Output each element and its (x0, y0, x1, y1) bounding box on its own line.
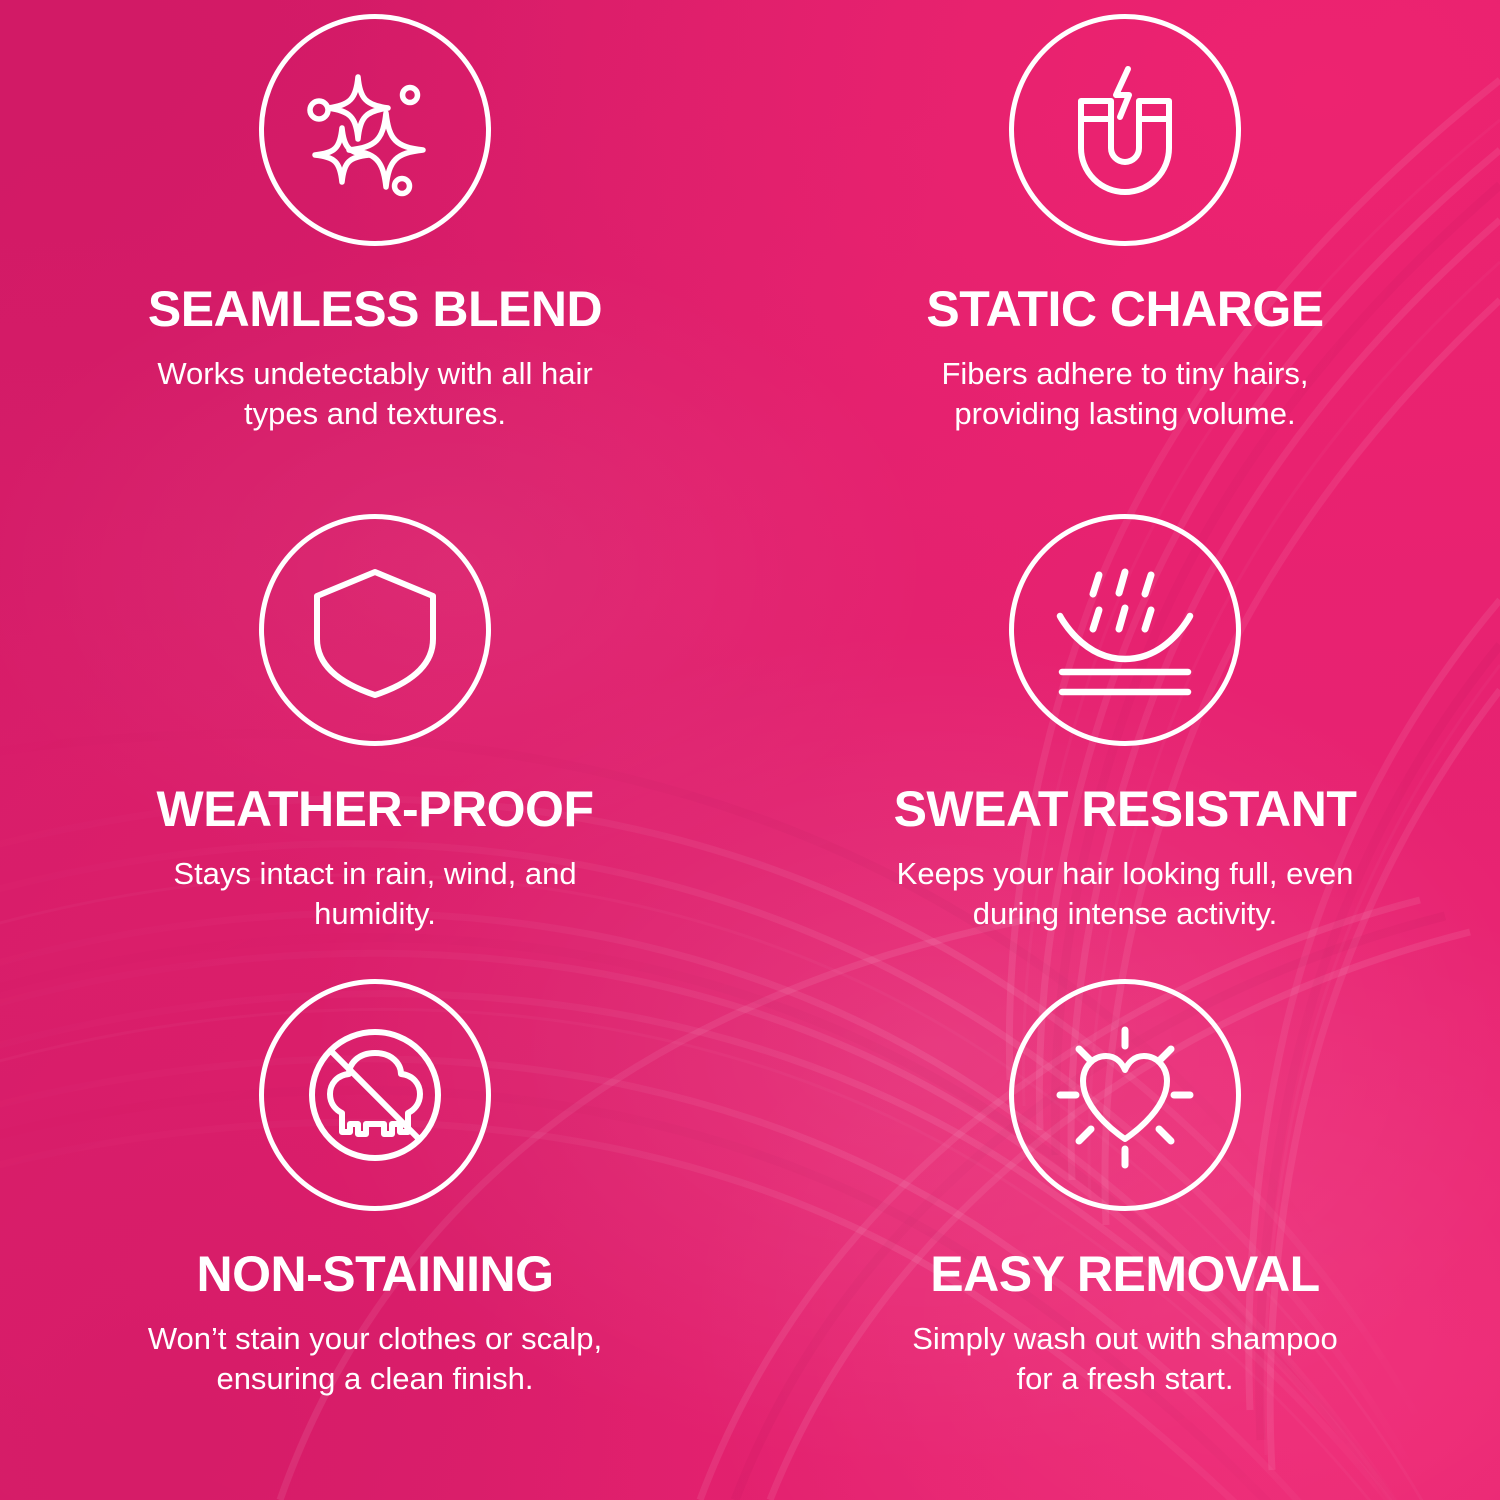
feature-card-easy-removal: EASY REMOVAL Simply wash out with shampo… (750, 965, 1500, 1500)
feature-description: Simply wash out with shampoo for a fresh… (912, 1319, 1338, 1400)
feature-description-line1: Works undetectably with all hair (157, 356, 592, 391)
feature-card-sweat-resistant: SWEAT RESISTANT Keeps your hair looking … (750, 500, 1500, 965)
feature-title: NON-STAINING (197, 1249, 554, 1299)
feature-description: Won’t stain your clothes or scalp, ensur… (148, 1319, 602, 1400)
feature-description: Stays intact in rain, wind, and humidity… (173, 854, 576, 935)
sparkles-icon-circle (259, 14, 491, 246)
feature-description-line1: Simply wash out with shampoo (912, 1321, 1338, 1356)
feature-title: SWEAT RESISTANT (894, 784, 1357, 834)
feature-card-seamless-blend: SEAMLESS BLEND Works undetectably with a… (0, 0, 750, 500)
feature-title: EASY REMOVAL (930, 1249, 1319, 1299)
magnet-icon-circle (1009, 14, 1241, 246)
feature-description-line1: Won’t stain your clothes or scalp, (148, 1321, 602, 1356)
feature-description-line1: Keeps your hair looking full, even (897, 856, 1354, 891)
feature-title: STATIC CHARGE (926, 284, 1323, 334)
water-repellent-icon-circle (1009, 514, 1241, 746)
heart-shine-icon-circle (1009, 979, 1241, 1211)
magnet-icon (1050, 55, 1200, 205)
feature-description-line1: Stays intact in rain, wind, and (173, 856, 576, 891)
feature-description-line2: for a fresh start. (912, 1359, 1338, 1399)
feature-description: Works undetectably with all hair types a… (157, 354, 592, 435)
feature-grid: SEAMLESS BLEND Works undetectably with a… (0, 0, 1500, 1500)
feature-description-line2: ensuring a clean finish. (148, 1359, 602, 1399)
sparkles-icon (300, 55, 450, 205)
feature-description-line2: types and textures. (157, 394, 592, 434)
feature-title: SEAMLESS BLEND (148, 284, 602, 334)
feature-description-line2: providing lasting volume. (941, 394, 1308, 434)
feature-card-non-staining: NON-STAINING Won’t stain your clothes or… (0, 965, 750, 1500)
heart-shine-icon (1050, 1020, 1200, 1170)
feature-description: Fibers adhere to tiny hairs, providing l… (941, 354, 1308, 435)
feature-description: Keeps your hair looking full, even durin… (897, 854, 1354, 935)
feature-card-static-charge: STATIC CHARGE Fibers adhere to tiny hair… (750, 0, 1500, 500)
feature-description-line2: during intense activity. (897, 894, 1354, 934)
feature-card-weather-proof: WEATHER-PROOF Stays intact in rain, wind… (0, 500, 750, 965)
water-repellent-icon (1050, 555, 1200, 705)
shield-icon (300, 555, 450, 705)
feature-description-line1: Fibers adhere to tiny hairs, (941, 356, 1308, 391)
no-stain-icon (300, 1020, 450, 1170)
shield-icon-circle (259, 514, 491, 746)
no-stain-icon-circle (259, 979, 491, 1211)
feature-description-line2: humidity. (173, 894, 576, 934)
feature-title: WEATHER-PROOF (157, 784, 594, 834)
